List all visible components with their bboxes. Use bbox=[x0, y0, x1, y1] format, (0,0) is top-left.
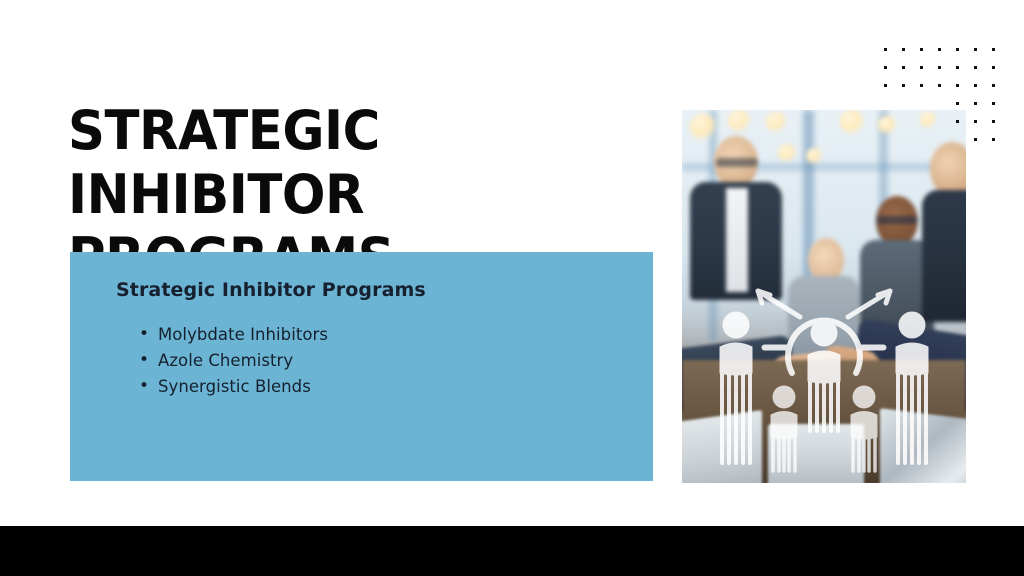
dot bbox=[992, 102, 995, 105]
bokeh-light bbox=[728, 110, 750, 132]
dot bbox=[902, 84, 905, 87]
dot bbox=[956, 66, 959, 69]
dot bbox=[956, 102, 959, 105]
dot bbox=[938, 66, 941, 69]
dot bbox=[884, 66, 887, 69]
dot bbox=[974, 48, 977, 51]
bokeh-light bbox=[806, 148, 822, 164]
list-item: Synergistic Blends bbox=[158, 374, 328, 400]
dot bbox=[974, 138, 977, 141]
bokeh-light bbox=[766, 112, 786, 132]
meeting-photo bbox=[682, 110, 966, 483]
dot bbox=[992, 138, 995, 141]
dot bbox=[992, 66, 995, 69]
dot bbox=[956, 120, 959, 123]
dot bbox=[920, 84, 923, 87]
person-silhouette bbox=[688, 136, 784, 296]
list-item: Azole Chemistry bbox=[158, 348, 328, 374]
list-item: Molybdate Inhibitors bbox=[158, 322, 328, 348]
dot bbox=[938, 84, 941, 87]
content-card-bullet-list: Molybdate Inhibitors Azole Chemistry Syn… bbox=[136, 322, 328, 400]
photo-scene bbox=[682, 110, 966, 483]
dot bbox=[974, 102, 977, 105]
bokeh-light bbox=[840, 110, 864, 134]
dot bbox=[974, 84, 977, 87]
bottom-bar bbox=[0, 526, 1024, 576]
content-card: Strategic Inhibitor Programs Molybdate I… bbox=[70, 252, 653, 481]
slide: STRATEGIC INHIBITOR PROGRAMS Strategic I… bbox=[0, 0, 1024, 576]
dot bbox=[992, 84, 995, 87]
dot bbox=[956, 84, 959, 87]
dot bbox=[992, 120, 995, 123]
dot bbox=[902, 48, 905, 51]
dot bbox=[884, 84, 887, 87]
dot-grid-icon bbox=[884, 48, 1018, 148]
dot bbox=[902, 66, 905, 69]
dot bbox=[956, 48, 959, 51]
dot bbox=[884, 48, 887, 51]
dot bbox=[938, 48, 941, 51]
dot bbox=[920, 48, 923, 51]
dot bbox=[920, 66, 923, 69]
dot bbox=[974, 120, 977, 123]
people-network-icon bbox=[696, 281, 952, 481]
dot bbox=[974, 66, 977, 69]
content-card-heading: Strategic Inhibitor Programs bbox=[116, 279, 426, 302]
dot bbox=[992, 48, 995, 51]
